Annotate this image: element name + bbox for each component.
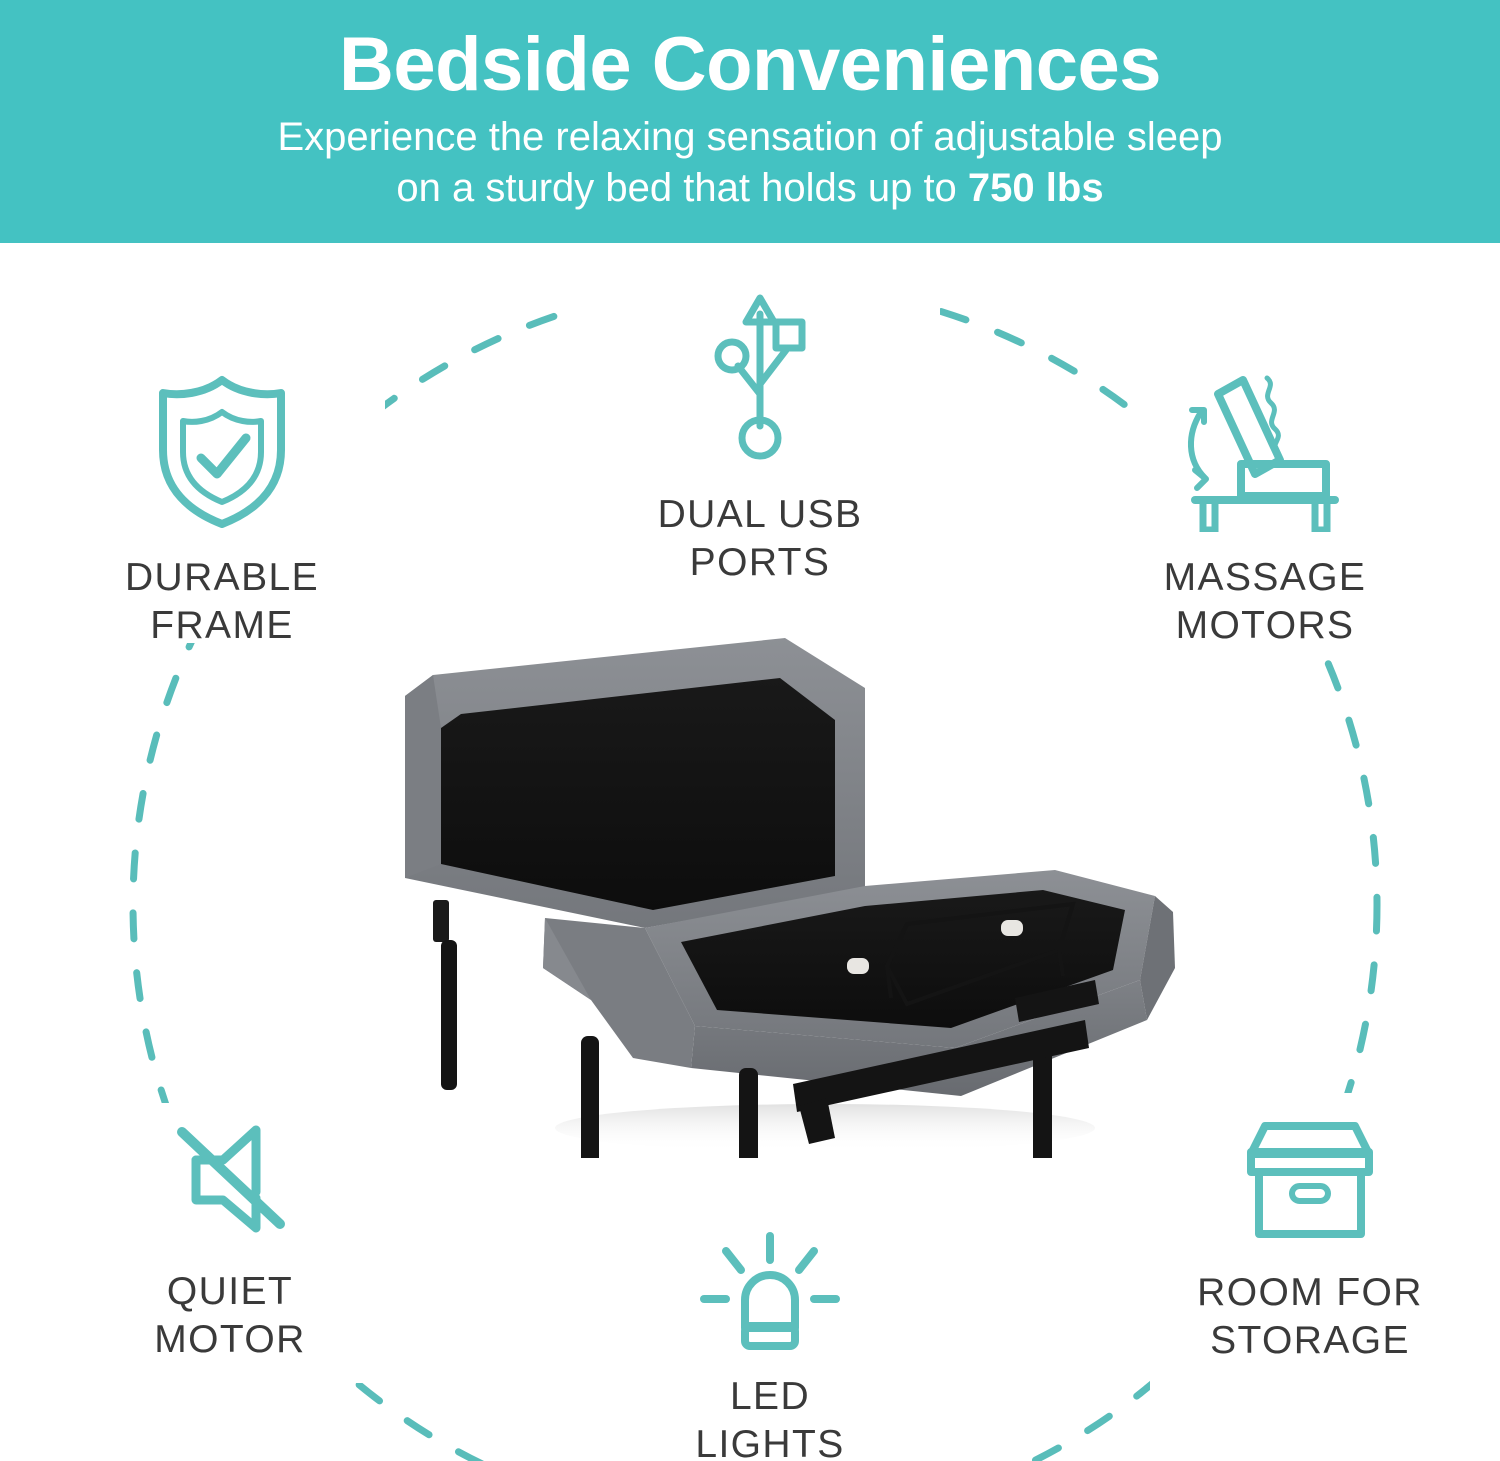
infographic-page: Bedside Conveniences Experience the rela…	[0, 0, 1500, 1461]
feature-quiet-motor: QUIET MOTOR	[80, 1120, 380, 1365]
feature-durable-frame: DURABLE FRAME	[72, 372, 372, 651]
feature-label-quiet-motor: QUIET MOTOR	[154, 1268, 305, 1365]
shield-check-icon	[147, 372, 297, 532]
page-title: Bedside Conveniences	[339, 26, 1161, 104]
feature-label-durable-frame: DURABLE FRAME	[125, 554, 319, 651]
header-subtitle-line2: on a sturdy bed that holds up to 750 lbs	[277, 163, 1222, 214]
feature-label-dual-usb-ports: DUAL USB PORTS	[658, 491, 863, 588]
feature-massage-motors: MASSAGE MOTORS	[1115, 372, 1415, 651]
massage-bed-icon	[1183, 372, 1348, 532]
usb-icon	[690, 290, 830, 465]
retainer-clip-right	[1001, 920, 1023, 936]
adjustable-bed-base-image	[395, 628, 1205, 1158]
feature-label-room-for-storage: ROOM FOR STORAGE	[1197, 1269, 1423, 1366]
header-subtitle-line2-prefix: on a sturdy bed that holds up to	[396, 166, 968, 210]
feature-dual-usb-ports: DUAL USB PORTS	[610, 290, 910, 588]
muted-speaker-icon	[168, 1120, 293, 1240]
light-bulb-icon	[700, 1230, 840, 1355]
header-subtitle: Experience the relaxing sensation of adj…	[277, 112, 1222, 214]
feature-room-for-storage: ROOM FOR STORAGE	[1160, 1118, 1460, 1366]
storage-box-icon	[1235, 1118, 1385, 1243]
feature-led-lights: LED LIGHTS	[620, 1230, 920, 1461]
feature-label-led-lights: LED LIGHTS	[695, 1373, 844, 1461]
retainer-clip-left	[847, 958, 869, 974]
header-banner: Bedside Conveniences Experience the rela…	[0, 0, 1500, 243]
weight-capacity-highlight: 750 lbs	[968, 166, 1104, 210]
header-subtitle-line1: Experience the relaxing sensation of adj…	[277, 112, 1222, 163]
bed-head-section	[405, 638, 865, 942]
